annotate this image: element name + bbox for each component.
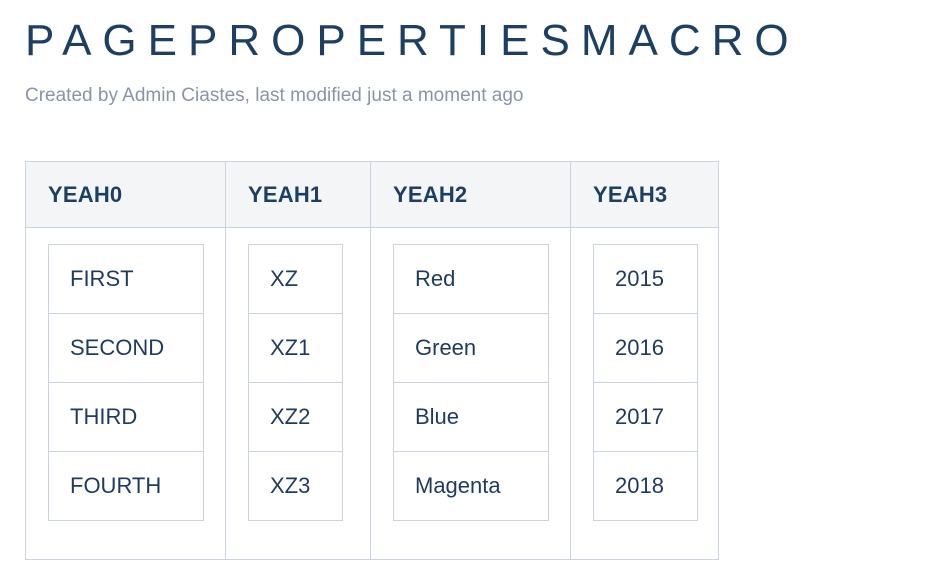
nested-table-yeah2: Red Green Blue Magenta xyxy=(393,244,549,521)
outer-cell-yeah2: Red Green Blue Magenta xyxy=(371,228,571,560)
list-item: FIRST xyxy=(49,245,204,314)
cell-yeah0-1: FIRST xyxy=(49,245,204,314)
cell-yeah1-2: XZ1 xyxy=(249,314,343,383)
outer-cell-yeah3: 2015 2016 2017 2018 xyxy=(571,228,719,560)
list-item: 2017 xyxy=(594,383,698,452)
cell-yeah3-1: 2015 xyxy=(594,245,698,314)
list-item: 2015 xyxy=(594,245,698,314)
column-header-yeah3[interactable]: YEAH3 xyxy=(571,162,719,228)
list-item: SECOND xyxy=(49,314,204,383)
table-body: FIRST SECOND THIRD FOURTH xyxy=(26,228,719,560)
list-item: Magenta xyxy=(394,452,549,521)
column-header-yeah2[interactable]: YEAH2 xyxy=(371,162,571,228)
cell-yeah1-3: XZ2 xyxy=(249,383,343,452)
nested-table-yeah0: FIRST SECOND THIRD FOURTH xyxy=(48,244,204,521)
column-header-yeah1[interactable]: YEAH1 xyxy=(226,162,371,228)
list-item: XZ2 xyxy=(249,383,343,452)
cell-yeah0-4: FOURTH xyxy=(49,452,204,521)
page-byline: Created by Admin Ciastes, last modified … xyxy=(25,70,948,108)
header-row: YEAH0 YEAH1 YEAH2 YEAH3 xyxy=(26,162,719,228)
outer-cell-yeah0: FIRST SECOND THIRD FOURTH xyxy=(26,228,226,560)
list-item: XZ3 xyxy=(249,452,343,521)
cell-yeah1-4: XZ3 xyxy=(249,452,343,521)
cell-yeah2-3: Blue xyxy=(394,383,549,452)
column-header-yeah0[interactable]: YEAH0 xyxy=(26,162,226,228)
list-item: Green xyxy=(394,314,549,383)
page-title: PagePropertiesMacro xyxy=(25,0,948,70)
cell-yeah2-1: Red xyxy=(394,245,549,314)
nested-table-yeah3: 2015 2016 2017 2018 xyxy=(593,244,698,521)
list-item: THIRD xyxy=(49,383,204,452)
cell-yeah3-2: 2016 xyxy=(594,314,698,383)
page-properties-report-table: YEAH0 YEAH1 YEAH2 YEAH3 FIRST SECOND xyxy=(25,161,719,560)
cell-yeah1-1: XZ xyxy=(249,245,343,314)
cell-yeah3-3: 2017 xyxy=(594,383,698,452)
list-item: Blue xyxy=(394,383,549,452)
cell-yeah2-2: Green xyxy=(394,314,549,383)
cell-yeah0-3: THIRD xyxy=(49,383,204,452)
cell-yeah0-2: SECOND xyxy=(49,314,204,383)
list-item: XZ xyxy=(249,245,343,314)
nested-table-yeah1: XZ XZ1 XZ2 XZ3 xyxy=(248,244,343,521)
cell-yeah2-4: Magenta xyxy=(394,452,549,521)
list-item: FOURTH xyxy=(49,452,204,521)
outer-cell-yeah1: XZ XZ1 XZ2 XZ3 xyxy=(226,228,371,560)
table-row: FIRST SECOND THIRD FOURTH xyxy=(26,228,719,560)
list-item: 2016 xyxy=(594,314,698,383)
list-item: Red xyxy=(394,245,549,314)
cell-yeah3-4: 2018 xyxy=(594,452,698,521)
list-item: 2018 xyxy=(594,452,698,521)
list-item: XZ1 xyxy=(249,314,343,383)
table-header: YEAH0 YEAH1 YEAH2 YEAH3 xyxy=(26,162,719,228)
page-container: PagePropertiesMacro Created by Admin Cia… xyxy=(0,0,948,570)
